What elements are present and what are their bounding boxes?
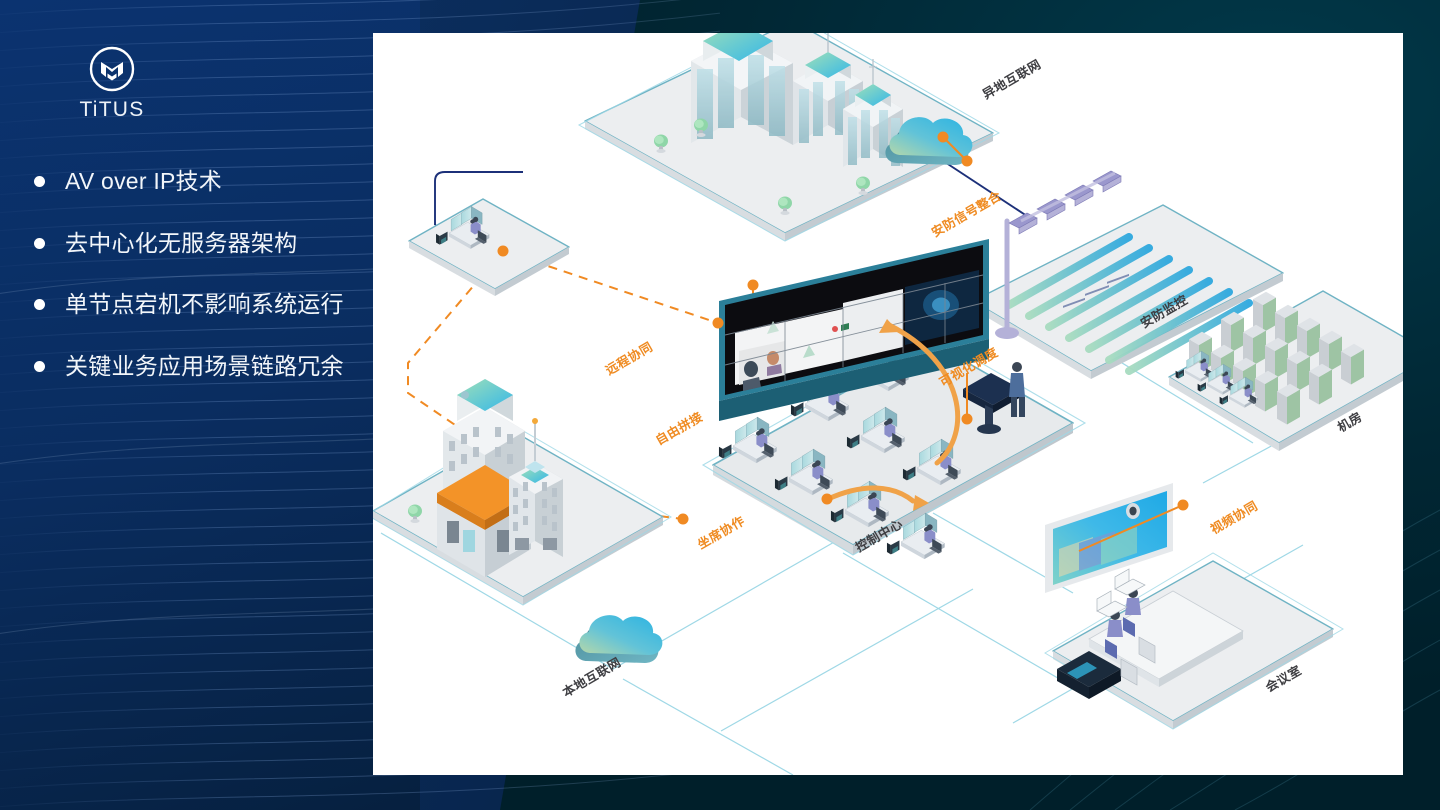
bullet-label: 单节点宕机不影响系统运行 — [65, 291, 344, 319]
list-item: 关键业务应用场景链路冗余 — [22, 353, 382, 381]
left-content-column: TiTUS AV over IP技术 去中心化无服务器架构 单节点宕机不影响系统… — [0, 0, 373, 810]
bullet-dot-icon — [34, 238, 45, 249]
brand-logo: TiTUS — [52, 45, 172, 122]
bullet-label: 关键业务应用场景链路冗余 — [65, 353, 344, 381]
brand-name: TiTUS — [52, 98, 172, 122]
list-item: 单节点宕机不影响系统运行 — [22, 291, 382, 319]
list-item: 去中心化无服务器架构 — [22, 230, 382, 258]
remote-workstation-platform — [409, 199, 569, 296]
architecture-diagram-panel: 异地互联网 安防信号整合 安防监控 机房 远程协同 自由拼接 可视化调度 坐席协… — [373, 33, 1403, 775]
isometric-topology-illustration — [373, 33, 1403, 775]
bullet-label: 去中心化无服务器架构 — [65, 230, 297, 258]
meeting-room-platform — [1045, 553, 1343, 729]
bullet-dot-icon — [34, 361, 45, 372]
feature-bullet-list: AV over IP技术 去中心化无服务器架构 单节点宕机不影响系统运行 关键业… — [22, 168, 382, 414]
bullet-label: AV over IP技术 — [65, 168, 222, 196]
security-camera-icon — [1009, 171, 1121, 234]
local-internet-cloud — [575, 615, 662, 663]
bullet-dot-icon — [34, 176, 45, 187]
city-platform-lower — [373, 379, 671, 605]
bullet-dot-icon — [34, 299, 45, 310]
titus-shield-m-icon — [88, 45, 136, 93]
list-item: AV over IP技术 — [22, 168, 382, 196]
